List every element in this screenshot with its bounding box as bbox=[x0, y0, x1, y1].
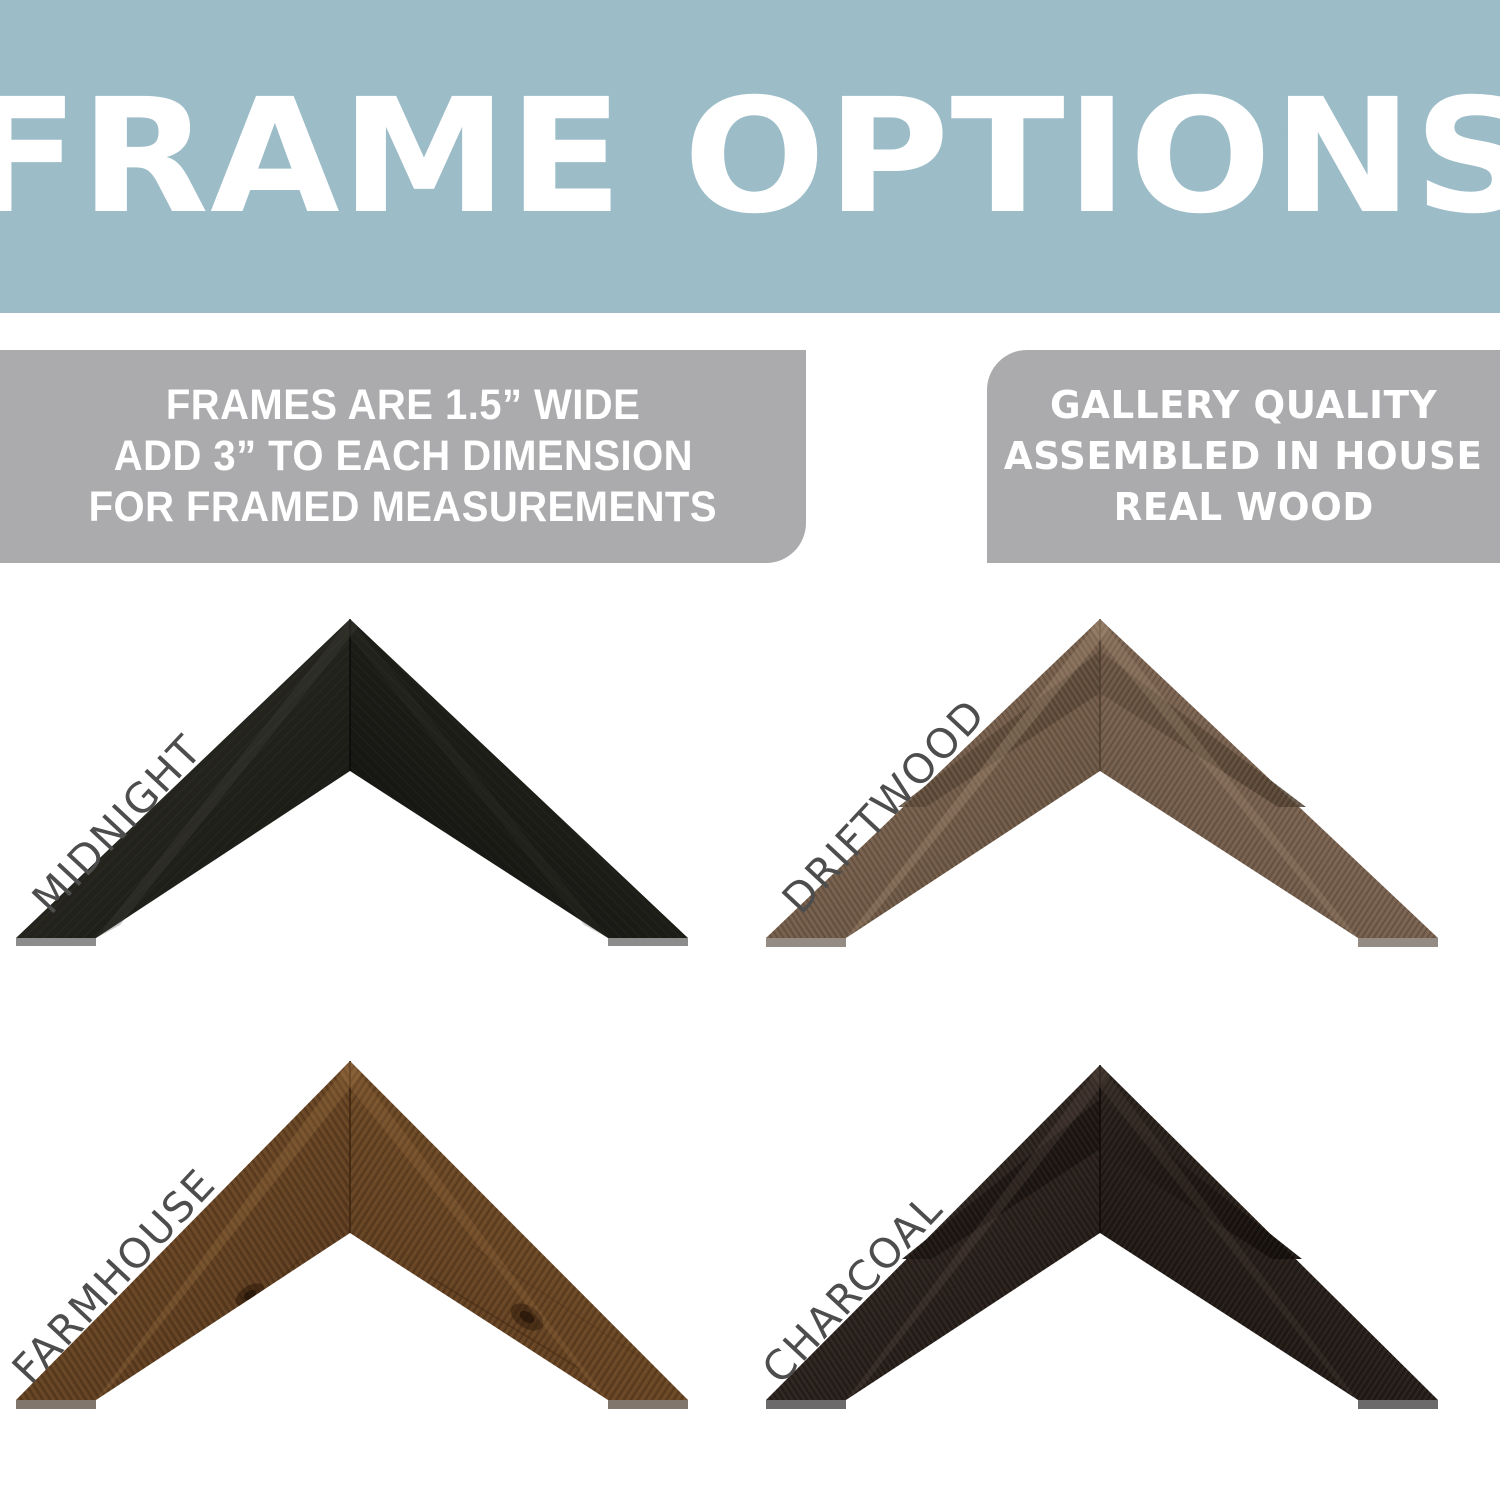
header-band: FRAME OPTIONS bbox=[0, 0, 1500, 313]
frame-options-grid: MIDNIGHT bbox=[0, 575, 1500, 1500]
info-box-quality: GALLERY QUALITY ASSEMBLED IN HOUSE REAL … bbox=[987, 350, 1500, 563]
info-line: FOR FRAMED MEASUREMENTS bbox=[89, 482, 717, 533]
frame-option-farmhouse[interactable]: FARMHOUSE bbox=[0, 1037, 750, 1499]
info-line: ASSEMBLED IN HOUSE bbox=[1004, 431, 1483, 482]
info-line: GALLERY QUALITY bbox=[1050, 380, 1437, 431]
frame-option-midnight[interactable]: MIDNIGHT bbox=[0, 575, 750, 1037]
info-line: ADD 3” TO EACH DIMENSION bbox=[113, 431, 692, 482]
frame-option-charcoal[interactable]: CHARCOAL bbox=[750, 1037, 1500, 1499]
info-box-measurements: FRAMES ARE 1.5” WIDE ADD 3” TO EACH DIME… bbox=[0, 350, 806, 563]
info-line: REAL WOOD bbox=[1113, 482, 1373, 533]
info-line: FRAMES ARE 1.5” WIDE bbox=[166, 380, 640, 431]
page-title: FRAME OPTIONS bbox=[0, 78, 1500, 236]
frame-option-driftwood[interactable]: DRIFTWOOD bbox=[750, 575, 1500, 1037]
